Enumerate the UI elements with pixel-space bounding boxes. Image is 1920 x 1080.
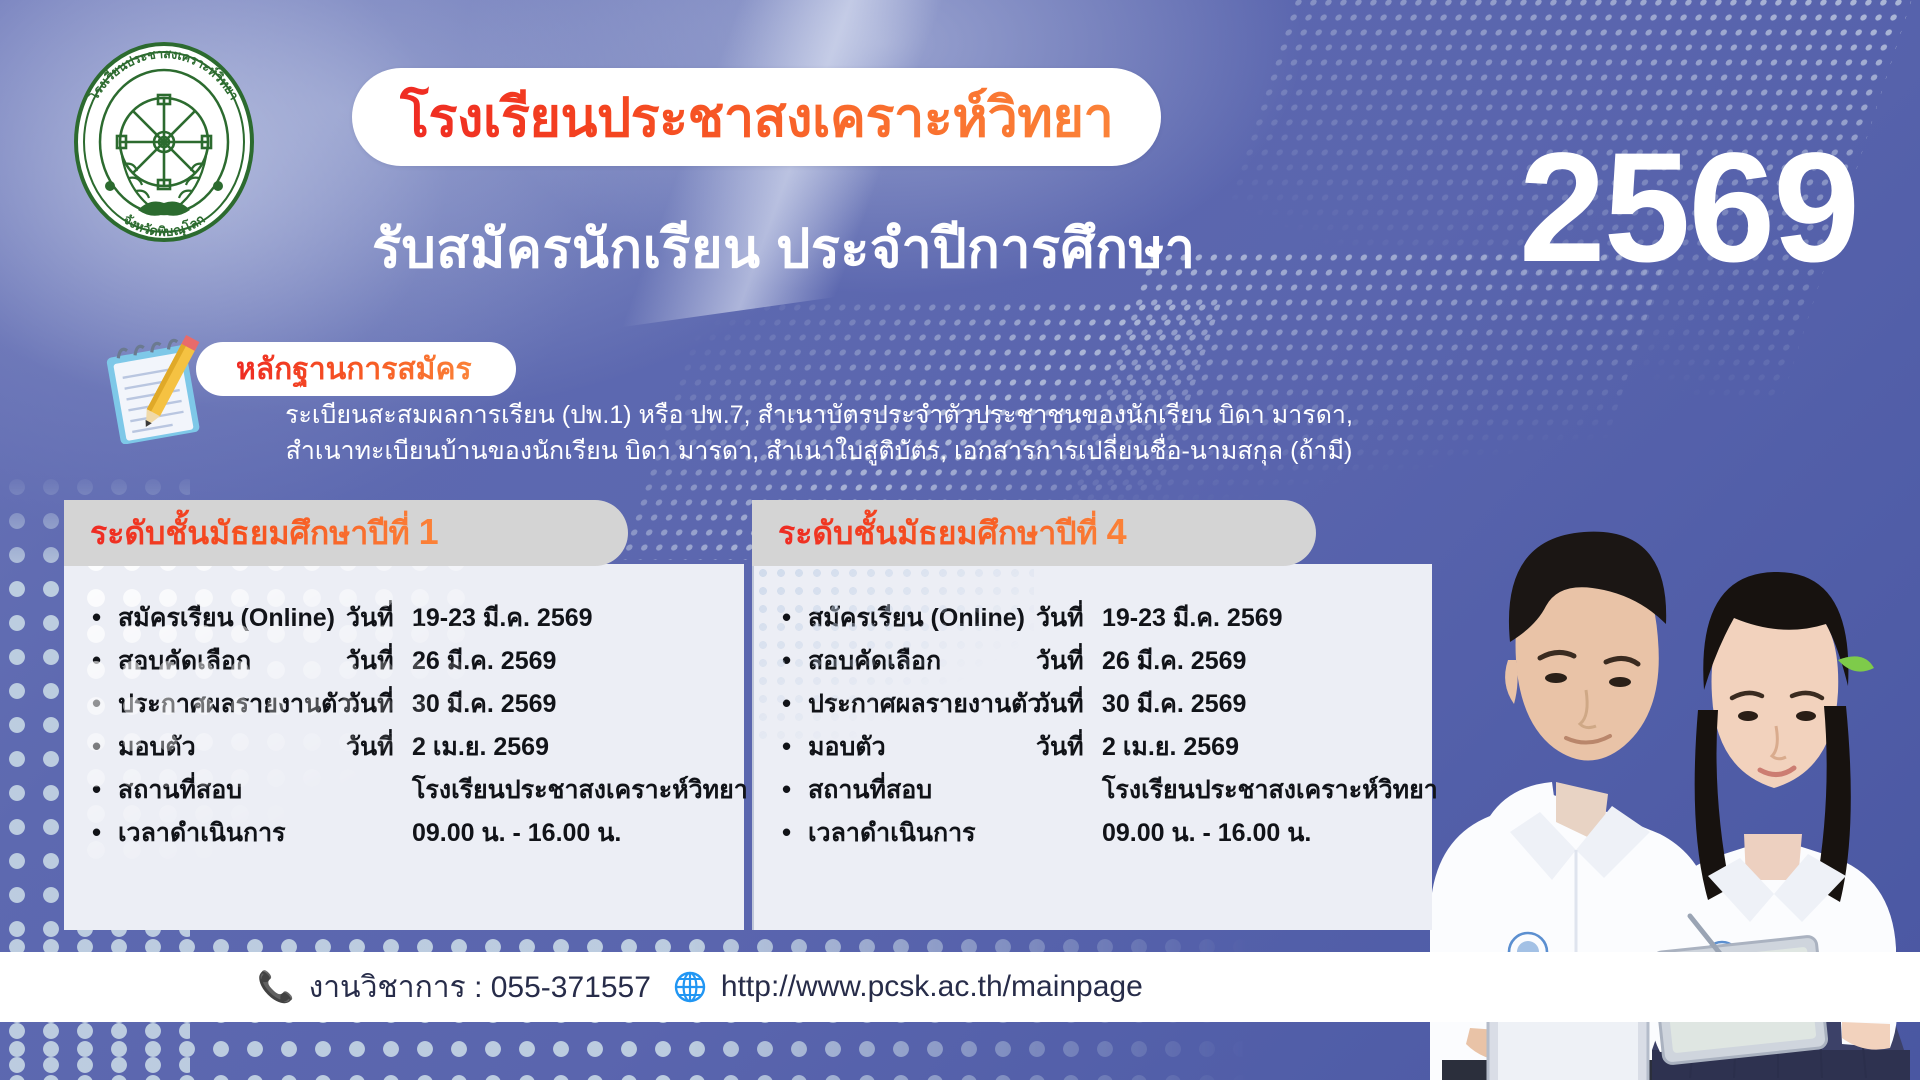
row-value: 26 มี.ค. 2569 — [1102, 641, 1246, 681]
row-label: สอบคัดเลือก — [808, 641, 1036, 681]
panel-m4-title: ระดับชั้นมัธยมศึกษาปีที่ 4 — [778, 508, 1127, 559]
table-row: • สถานที่สอบ โรงเรียนประชาสงเคราะห์วิทยา — [754, 770, 1432, 813]
panel-m1: ระดับชั้นมัธยมศึกษาปีที่ 1 • สมัครเรียน … — [64, 500, 744, 930]
table-row: • ประกาศผลรายงานตัว วันที่ 30 มี.ค. 2569 — [64, 684, 744, 727]
globe-icon — [673, 970, 707, 1004]
school-name-text: โรงเรียนประชาสงเคราะห์วิทยา — [400, 74, 1113, 160]
row-value: 19-23 มี.ค. 2569 — [412, 598, 593, 638]
documents-badge-label: หลักฐานการสมัคร — [236, 346, 472, 393]
bullet-icon: • — [92, 690, 118, 716]
row-label: สมัครเรียน (Online) — [118, 598, 346, 638]
row-prefix: วันที่ — [1036, 598, 1102, 638]
row-prefix: วันที่ — [346, 641, 412, 681]
bullet-icon: • — [782, 690, 808, 716]
documents-requirements: ระเบียนสะสมผลการเรียน (ปพ.1) หรือ ปพ.7, … — [224, 398, 1414, 469]
bullet-icon: • — [92, 819, 118, 845]
bullet-icon: • — [92, 776, 118, 802]
row-prefix: วันที่ — [1036, 727, 1102, 767]
row-label: สอบคัดเลือก — [118, 641, 346, 681]
row-value: 09.00 น. - 16.00 น. — [412, 813, 621, 853]
bullet-icon: • — [92, 647, 118, 673]
phone-icon: 📞 — [257, 970, 294, 1005]
school-name-pill: โรงเรียนประชาสงเคราะห์วิทยา — [352, 68, 1161, 166]
row-label: เวลาดำเนินการ — [808, 813, 1036, 853]
school-seal-logo: โรงเรียนประชาสงเคราะห์วิทยา จังหวัดพิษณุ… — [60, 38, 268, 246]
panel-m1-title: ระดับชั้นมัธยมศึกษาปีที่ 1 — [90, 508, 439, 559]
table-row: • เวลาดำเนินการ 09.00 น. - 16.00 น. — [754, 813, 1432, 856]
row-label: สถานที่สอบ — [118, 770, 346, 810]
light-swoosh-decoration — [394, 0, 1205, 351]
row-prefix: วันที่ — [346, 598, 412, 638]
panel-m1-header: ระดับชั้นมัธยมศึกษาปีที่ 1 — [64, 500, 628, 566]
table-row: • ประกาศผลรายงานตัว วันที่ 30 มี.ค. 2569 — [754, 684, 1432, 727]
row-label: มอบตัว — [808, 727, 1036, 767]
row-value: 09.00 น. - 16.00 น. — [1102, 813, 1311, 853]
footer-phone-label: งานวิชาการ : 055-371557 — [309, 964, 651, 1011]
bullet-icon: • — [92, 604, 118, 630]
row-prefix: วันที่ — [1036, 684, 1102, 724]
table-row: • สอบคัดเลือก วันที่ 26 มี.ค. 2569 — [64, 641, 744, 684]
bullet-icon: • — [782, 733, 808, 759]
bullet-icon: • — [92, 733, 118, 759]
bullet-icon: • — [782, 647, 808, 673]
table-row: • มอบตัว วันที่ 2 เม.ย. 2569 — [64, 727, 744, 770]
table-row: • สมัครเรียน (Online) วันที่ 19-23 มี.ค.… — [64, 598, 744, 641]
notepad-pencil-icon — [96, 332, 218, 444]
admissions-subtitle: รับสมัครนักเรียน ประจำปีการศึกษา — [372, 205, 1196, 291]
academic-year: 2569 — [1519, 130, 1858, 286]
row-prefix: วันที่ — [1036, 641, 1102, 681]
row-label: สถานที่สอบ — [808, 770, 1036, 810]
footer-website[interactable]: http://www.pcsk.ac.th/mainpage — [673, 970, 1143, 1004]
table-row: • สมัครเรียน (Online) วันที่ 19-23 มี.ค.… — [754, 598, 1432, 641]
row-value: โรงเรียนประชาสงเคราะห์วิทยา — [412, 770, 748, 810]
row-label: ประกาศผลรายงานตัว — [118, 684, 346, 724]
panel-m4-body: • สมัครเรียน (Online) วันที่ 19-23 มี.ค.… — [752, 564, 1432, 930]
row-prefix: วันที่ — [346, 684, 412, 724]
table-row: • สถานที่สอบ โรงเรียนประชาสงเคราะห์วิทยา — [64, 770, 744, 813]
documents-line-1: ระเบียนสะสมผลการเรียน (ปพ.1) หรือ ปพ.7, … — [224, 398, 1414, 434]
bullet-icon: • — [782, 604, 808, 630]
row-value: 30 มี.ค. 2569 — [1102, 684, 1246, 724]
admissions-poster: โรงเรียนประชาสงเคราะห์วิทยา จังหวัดพิษณุ… — [0, 0, 1920, 1080]
row-value: 26 มี.ค. 2569 — [412, 641, 556, 681]
row-label: ประกาศผลรายงานตัว — [808, 684, 1036, 724]
row-value: 2 เม.ย. 2569 — [412, 727, 549, 767]
footer-phone: 📞 งานวิชาการ : 055-371557 — [257, 964, 651, 1011]
row-value: 2 เม.ย. 2569 — [1102, 727, 1239, 767]
bullet-icon: • — [782, 776, 808, 802]
table-row: • มอบตัว วันที่ 2 เม.ย. 2569 — [754, 727, 1432, 770]
row-label: มอบตัว — [118, 727, 346, 767]
panel-m4-header: ระดับชั้นมัธยมศึกษาปีที่ 4 — [752, 500, 1316, 566]
table-row: • สอบคัดเลือก วันที่ 26 มี.ค. 2569 — [754, 641, 1432, 684]
footer-website-url[interactable]: http://www.pcsk.ac.th/mainpage — [721, 970, 1143, 1004]
row-value: 19-23 มี.ค. 2569 — [1102, 598, 1283, 638]
table-row: • เวลาดำเนินการ 09.00 น. - 16.00 น. — [64, 813, 744, 856]
footer-contact: 📞 งานวิชาการ : 055-371557 http://www.pcs… — [0, 952, 1400, 1022]
row-label: สมัครเรียน (Online) — [808, 598, 1036, 638]
panel-m1-body: • สมัครเรียน (Online) วันที่ 19-23 มี.ค.… — [64, 564, 744, 930]
row-prefix: วันที่ — [346, 727, 412, 767]
row-label: เวลาดำเนินการ — [118, 813, 346, 853]
documents-badge: หลักฐานการสมัคร — [196, 342, 516, 396]
row-value: โรงเรียนประชาสงเคราะห์วิทยา — [1102, 770, 1438, 810]
row-value: 30 มี.ค. 2569 — [412, 684, 556, 724]
panel-m4: ระดับชั้นมัธยมศึกษาปีที่ 4 • สมัครเรียน … — [752, 500, 1432, 930]
documents-line-2: สำเนาทะเบียนบ้านของนักเรียน บิดา มารดา, … — [224, 434, 1414, 470]
bullet-icon: • — [782, 819, 808, 845]
